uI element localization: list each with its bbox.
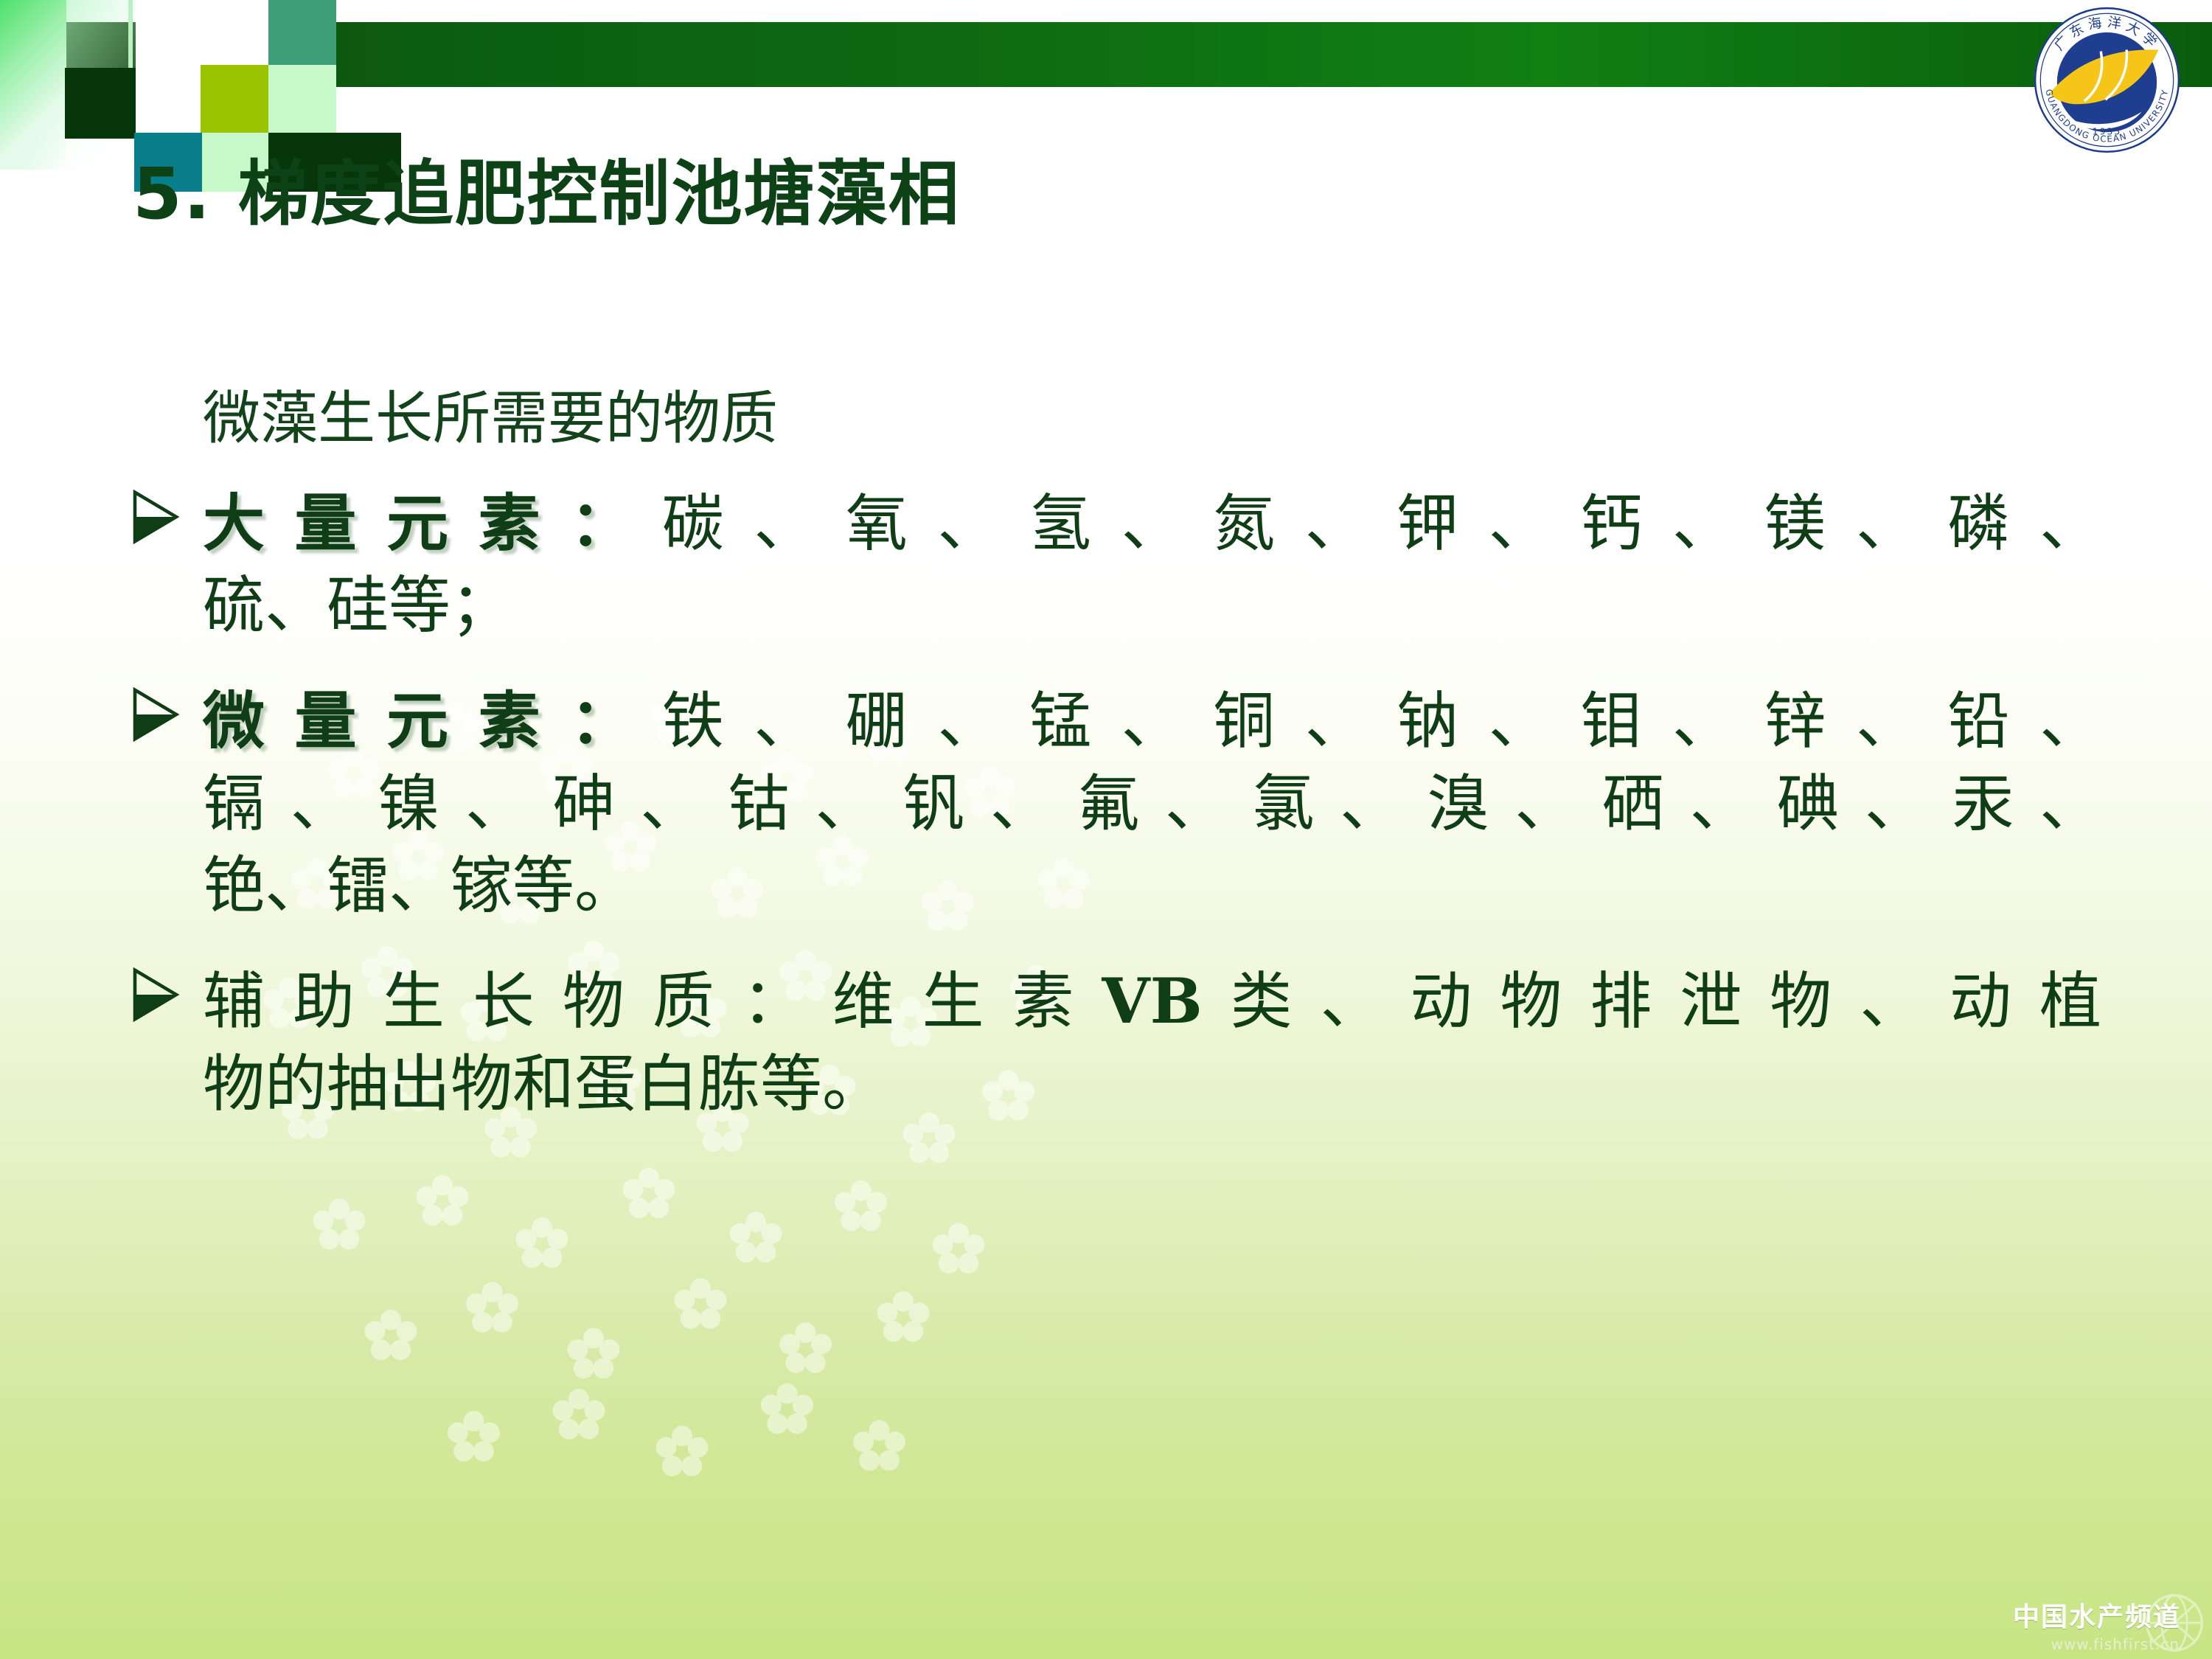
square-seafoam: [268, 0, 336, 65]
arrow-bullet-icon: [130, 686, 181, 743]
square-white-gap-2: [201, 0, 268, 65]
slide-canvas: 1935 广东海洋大学 GUANGDONG OCEAN UNIVERSITY 5…: [0, 0, 2212, 1659]
bullet-3-line-1-latin: VB: [1102, 964, 1202, 1037]
bullet-item-auxiliary-substances: 辅助生长物质：维生素VB类、动物排泄物、动植 物的抽出物和蛋白胨等。: [125, 960, 2101, 1125]
bullet-2-line-3: 铯、镭、镓等。: [203, 845, 2101, 928]
square-stripe-lightgreen: [128, 0, 133, 68]
bullet-2-line-2: 镉、镍、砷、钴、钒、氟、氯、溴、硒、碘、汞、: [203, 763, 2101, 846]
university-logo: 1935 广东海洋大学 GUANGDONG OCEAN UNIVERSITY: [2031, 4, 2183, 156]
bullet-1-line-1: 大量元素：碳、氧、氢、氮、钾、钙、镁、磷、: [203, 482, 2101, 566]
bullet-1-lead: 大量元素：: [203, 487, 662, 560]
slide-title: 5. 梯度追肥控制池塘藻相: [133, 136, 961, 239]
bullet-item-macro-elements: 大量元素：碳、氧、氢、氮、钾、钙、镁、磷、 硫、硅等；: [125, 482, 2101, 647]
watermark-url: www.fishfirst.cn: [2051, 1635, 2180, 1653]
square-lime: [201, 65, 268, 133]
bullet-3-lead: 辅助生长物质：: [203, 965, 832, 1037]
bullet-2-lead: 微量元素：: [203, 684, 662, 757]
bullet-2-line-1: 微量元素：铁、硼、锰、铜、钠、钼、锌、铅、: [203, 680, 2101, 763]
bullet-3-line-1-rest-a: 维生素: [832, 965, 1102, 1037]
header-fade-edge: [0, 0, 66, 170]
bullet-2-line-1-rest: 铁、硼、锰、铜、钠、钼、锌、铅、: [662, 685, 2101, 757]
slide-body: 微藻生长所需要的物质 大量元素：碳、氧、氢、氮、钾、钙、镁、磷、 硫、硅等； 微…: [125, 383, 2101, 1158]
body-subtitle: 微藻生长所需要的物质: [125, 383, 2101, 456]
watermark-channel-name: 中国水产频道: [2013, 1596, 2181, 1634]
square-white-gap: [136, 0, 201, 133]
bullet-1-line-2: 硫、硅等；: [203, 565, 2101, 647]
square-dark-1: [65, 68, 136, 139]
bullet-3-line-1-rest-b: 类、动物排泄物、动植: [1203, 965, 2101, 1037]
bullet-3-line-1: 辅助生长物质：维生素VB类、动物排泄物、动植: [203, 960, 2101, 1043]
arrow-bullet-icon: [130, 488, 181, 546]
bullet-1-line-1-rest: 碳、氧、氢、氮、钾、钙、镁、磷、: [662, 487, 2101, 560]
square-pale-2: [268, 65, 336, 133]
bullet-item-trace-elements: 微量元素：铁、硼、锰、铜、钠、钼、锌、铅、 镉、镍、砷、钴、钒、氟、氯、溴、硒、…: [125, 680, 2101, 928]
arrow-bullet-icon: [130, 966, 181, 1023]
bullet-3-line-2: 物的抽出物和蛋白胨等。: [203, 1043, 2101, 1126]
